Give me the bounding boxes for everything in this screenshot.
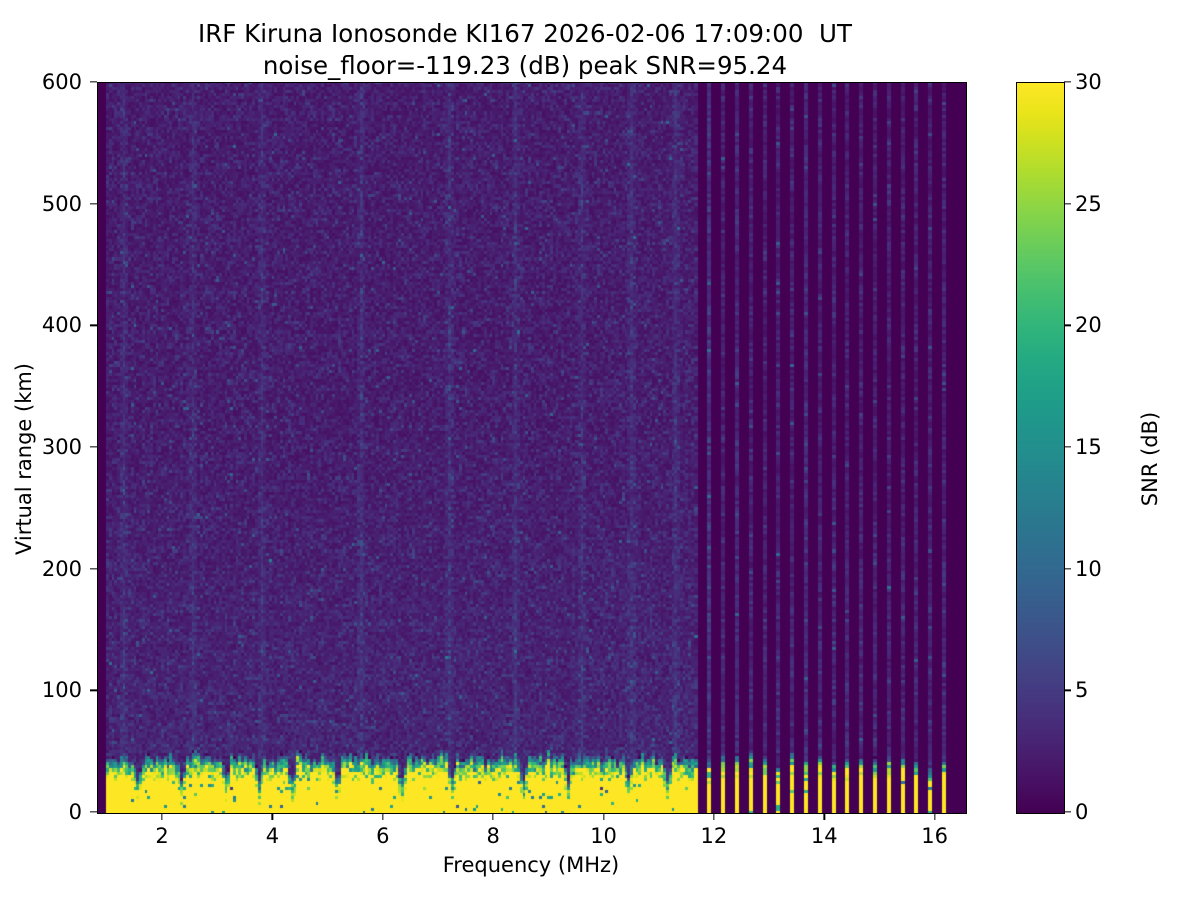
x-tick-label: 12 <box>674 824 754 848</box>
x-tick-mark <box>161 813 162 820</box>
colorbar-tick-label: 25 <box>1075 192 1102 216</box>
x-tick-label: 8 <box>453 824 533 848</box>
colorbar-tick-label: 0 <box>1075 800 1088 824</box>
colorbar-tick-mark <box>1064 203 1071 204</box>
title-line-1: IRF Kiruna Ionosonde KI167 2026-02-06 17… <box>0 18 1050 50</box>
colorbar-tick-mark <box>1064 811 1071 812</box>
x-tick-label: 10 <box>564 824 644 848</box>
colorbar-tick-mark <box>1064 325 1071 326</box>
title-line-2: noise_floor=-119.23 (dB) peak SNR=95.24 <box>0 50 1050 82</box>
colorbar-tick-label: 10 <box>1075 557 1102 581</box>
y-tick-mark <box>90 690 97 691</box>
y-tick-label: 0 <box>12 800 82 824</box>
x-axis-label: Frequency (MHz) <box>97 853 965 877</box>
colorbar-gradient <box>1017 83 1064 813</box>
x-tick-mark <box>272 813 273 820</box>
y-tick-mark <box>90 325 97 326</box>
x-tick-mark <box>382 813 383 820</box>
x-tick-mark <box>713 813 714 820</box>
x-tick-mark <box>603 813 604 820</box>
y-axis-label: Virtual range (km) <box>12 249 36 669</box>
x-tick-mark <box>493 813 494 820</box>
colorbar-tick-label: 20 <box>1075 313 1102 337</box>
x-tick-label: 2 <box>122 824 202 848</box>
ionogram-figure: IRF Kiruna Ionosonde KI167 2026-02-06 17… <box>0 0 1200 900</box>
colorbar-tick-label: 5 <box>1075 678 1088 702</box>
colorbar <box>1016 82 1065 814</box>
y-tick-mark <box>90 568 97 569</box>
y-tick-mark <box>90 203 97 204</box>
x-tick-mark <box>934 813 935 820</box>
y-tick-mark <box>90 446 97 447</box>
x-tick-label: 16 <box>895 824 975 848</box>
x-tick-label: 6 <box>343 824 423 848</box>
y-tick-label: 500 <box>12 192 82 216</box>
plot-axes <box>97 82 967 814</box>
y-tick-mark <box>90 811 97 812</box>
x-tick-label: 4 <box>232 824 312 848</box>
y-tick-mark <box>90 81 97 82</box>
colorbar-label: SNR (dB) <box>1138 309 1162 609</box>
ionogram-heatmap <box>98 83 966 813</box>
colorbar-tick-mark <box>1064 568 1071 569</box>
x-tick-mark <box>824 813 825 820</box>
y-tick-label: 600 <box>12 70 82 94</box>
figure-title: IRF Kiruna Ionosonde KI167 2026-02-06 17… <box>0 18 1050 83</box>
x-tick-label: 14 <box>784 824 864 848</box>
y-tick-label: 100 <box>12 678 82 702</box>
colorbar-tick-mark <box>1064 690 1071 691</box>
colorbar-tick-label: 30 <box>1075 70 1102 94</box>
colorbar-tick-label: 15 <box>1075 435 1102 459</box>
colorbar-tick-mark <box>1064 446 1071 447</box>
colorbar-tick-mark <box>1064 81 1071 82</box>
